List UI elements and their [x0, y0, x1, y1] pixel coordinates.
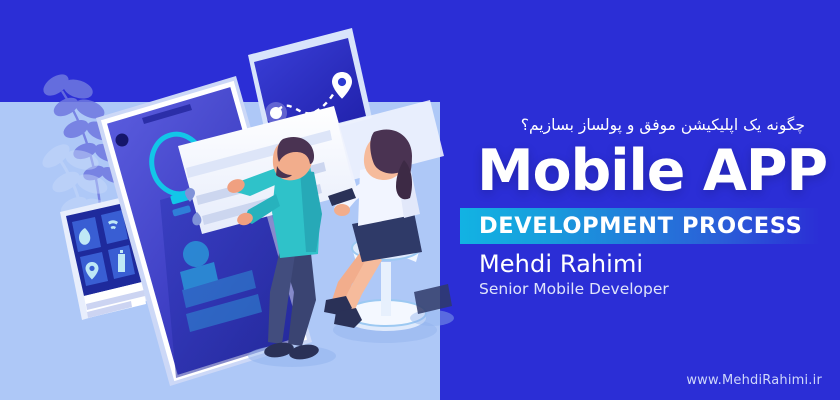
webinar-banner: چگونه یک اپلیکیشن موفق و پولساز بسازیم؟ …	[0, 0, 840, 400]
phone-camera	[116, 134, 129, 147]
floor-shadow-right	[410, 310, 454, 326]
subtitle-text: DEVELOPMENT PROCESS	[479, 213, 802, 239]
secondary-device	[414, 284, 452, 314]
website-url: www.MehdiRahimi.ir	[686, 373, 822, 388]
isometric-artwork	[0, 0, 460, 400]
subtitle-banner: DEVELOPMENT PROCESS	[460, 208, 820, 244]
presenter-role: Senior Mobile Developer	[479, 280, 669, 298]
presenter-name: Mehdi Rahimi	[479, 250, 643, 278]
persian-kicker: چگونه یک اپلیکیشن موفق و پولساز بسازیم؟	[521, 116, 805, 134]
page-title: Mobile APP	[477, 140, 827, 202]
illustration-scene	[0, 0, 460, 400]
text-panel: چگونه یک اپلیکیشن موفق و پولساز بسازیم؟ …	[455, 0, 840, 400]
